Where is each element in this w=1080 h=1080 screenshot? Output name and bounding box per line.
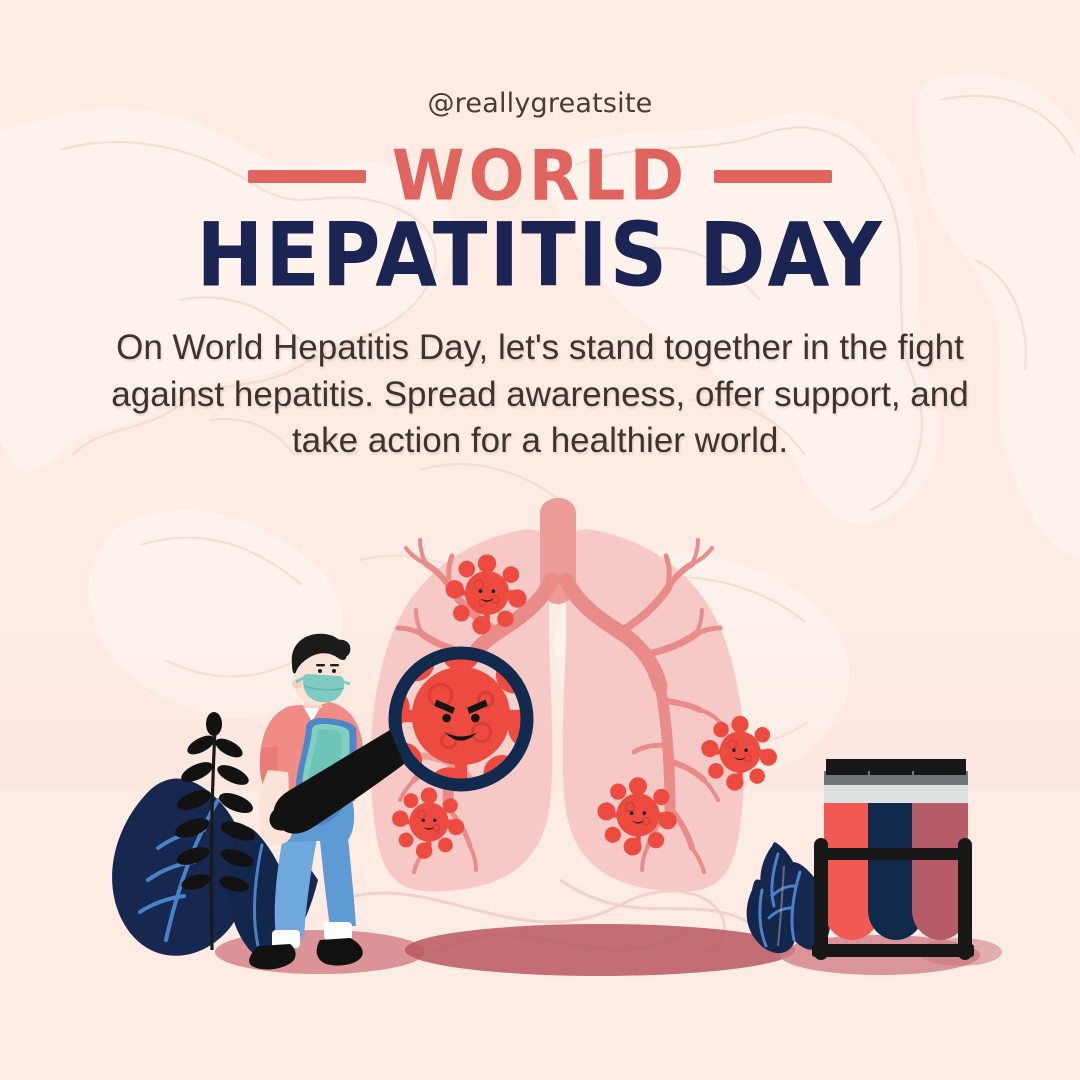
illustration-scene [0, 0, 1080, 1080]
test-tube-rack [812, 759, 974, 960]
poster-canvas: @reallygreatsite WORLD HEPATITIS DAY On … [0, 0, 1080, 1080]
